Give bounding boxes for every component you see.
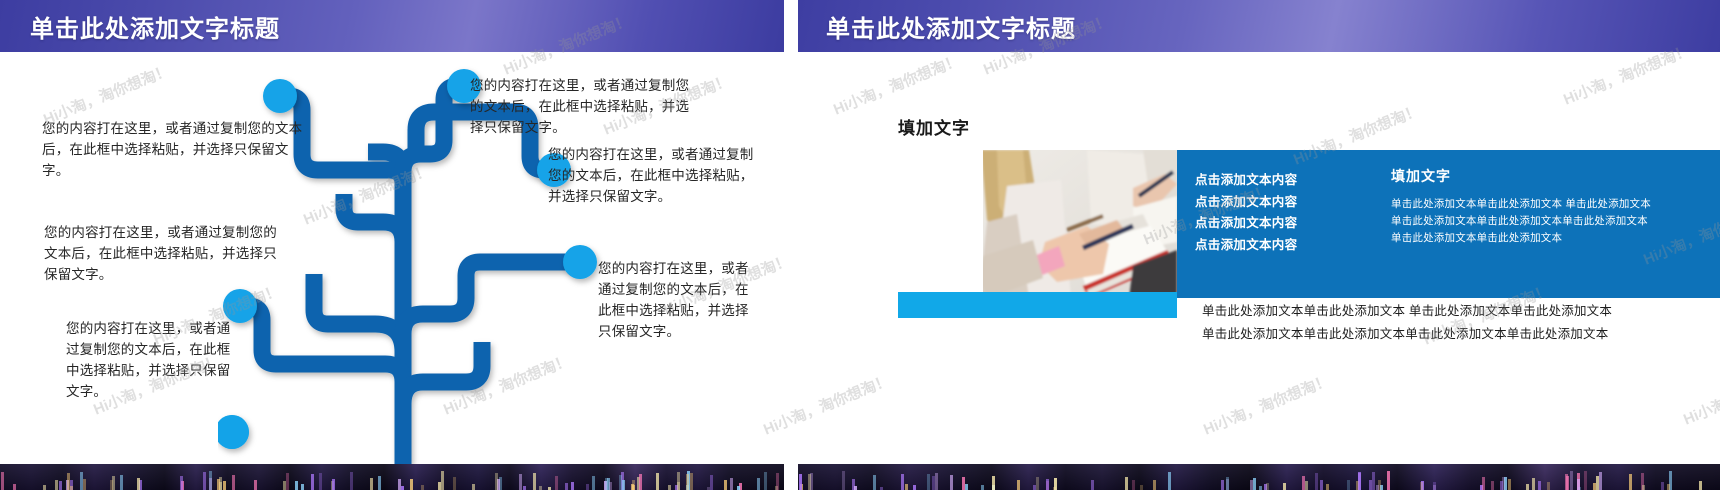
skyline-window [232, 475, 235, 490]
skyline-window [519, 474, 522, 490]
skyline-window [686, 474, 689, 490]
skyline-window [301, 484, 304, 490]
city-skyline-strip-left [0, 464, 784, 490]
bullet-item[interactable]: 点击添加文本内容 [1195, 235, 1373, 257]
skyline-window [1532, 478, 1535, 490]
skyline-window [776, 473, 779, 490]
skyline-window [1565, 474, 1568, 490]
skyline-window [757, 478, 760, 490]
skyline-window [1153, 480, 1156, 490]
skyline-window [1491, 481, 1494, 490]
skyline-window [632, 485, 635, 490]
slide-right[interactable]: 单击此处添加文字标题 填加文字 [798, 0, 1720, 490]
skyline-window [67, 473, 70, 490]
skyline-window [533, 473, 536, 490]
skyline-window [1, 472, 4, 490]
skyline-window [217, 479, 220, 490]
skyline-window [913, 485, 916, 490]
skyline-window [935, 473, 938, 490]
skyline-window [1387, 471, 1390, 490]
skyline-window [1538, 481, 1541, 490]
skyline-window [1420, 482, 1423, 490]
footer-line[interactable]: 单击此处添加文本单击此处添加文本 单击此处添加文本单击此处添加文本 [1202, 300, 1720, 323]
bullet-list: 点击添加文本内容 点击添加文本内容 点击添加文本内容 点击添加文本内容 [1195, 170, 1373, 256]
skyline-window [1629, 474, 1632, 490]
skyline-window [80, 472, 83, 490]
caption-left-top[interactable]: 您的内容打在这里，或者通过复制您的文本后，在此框中选择粘贴，并选择只保留文字。 [42, 118, 310, 181]
skyline-window [1599, 472, 1602, 490]
skyline-window [13, 484, 16, 490]
skyline-window [764, 472, 767, 490]
skyline-window [1266, 483, 1269, 490]
skyline-window [1250, 480, 1253, 490]
skyline-window [209, 478, 212, 490]
skyline-window [370, 478, 373, 490]
skyline-window [622, 480, 625, 490]
skyline-window [203, 472, 206, 490]
skyline-window [1369, 480, 1372, 490]
skyline-window [1372, 472, 1375, 490]
skyline-window [1017, 480, 1020, 490]
skyline-window [730, 478, 733, 490]
skyline-window [1033, 485, 1036, 490]
skyline-window [350, 472, 353, 490]
panel-line[interactable]: 单击此处添加文本单击此处添加文本 [1391, 230, 1720, 247]
skyline-window [453, 477, 456, 490]
blue-box-panel-title[interactable]: 填加文字 [1391, 166, 1720, 186]
skyline-window [1500, 481, 1503, 490]
skyline-window [592, 476, 595, 490]
skyline-window [854, 486, 857, 490]
skyline-window [1253, 478, 1256, 490]
skyline-window [1667, 484, 1670, 490]
skyline-window [808, 474, 811, 490]
skyline-window [981, 485, 984, 490]
skyline-window [873, 475, 876, 490]
skyline-window [965, 484, 968, 490]
tree-node [263, 79, 297, 113]
photo-women-writing [983, 150, 1177, 298]
skyline-window [710, 475, 713, 490]
skyline-window [110, 480, 113, 490]
slide-right-title[interactable]: 单击此处添加文字标题 [826, 9, 1076, 44]
skyline-window [1125, 477, 1128, 490]
skyline-window [1358, 473, 1361, 490]
caption-left-bottom[interactable]: 您的内容打在这里，或者通过复制您的文本后，在此框中选择粘贴，并选择只保留文字。 [66, 318, 242, 402]
skyline-window [737, 486, 740, 490]
skyline-window [1326, 484, 1329, 490]
skyline-window [656, 473, 659, 490]
skyline-window [690, 473, 693, 490]
skyline-window [1547, 482, 1550, 490]
skyline-window [668, 485, 671, 490]
slide-left[interactable]: 单击此处添加文字标题 [0, 0, 784, 490]
skyline-window [1584, 471, 1587, 490]
skyline-window [1570, 471, 1573, 490]
slide-gutter [784, 0, 798, 490]
skyline-window [1036, 477, 1039, 490]
skyline-window [401, 486, 404, 490]
skyline-window [609, 482, 612, 490]
skyline-window [1376, 485, 1379, 490]
skyline-window [1642, 485, 1645, 490]
skyline-window [472, 484, 475, 490]
skyline-window [1482, 477, 1485, 490]
blue-content-box: 点击添加文本内容 点击添加文本内容 点击添加文本内容 点击添加文本内容 填加文字… [1177, 150, 1720, 298]
skyline-window [83, 479, 86, 490]
tree-node [563, 245, 597, 279]
skyline-window [586, 484, 589, 490]
slide-right-header: 单击此处添加文字标题 [798, 0, 1720, 52]
skyline-window [1283, 483, 1286, 490]
skyline-window [842, 471, 845, 490]
skyline-window [1046, 479, 1049, 490]
skyline-window [70, 486, 73, 490]
skyline-window [223, 481, 226, 490]
skyline-window [799, 474, 802, 490]
skyline-window [1596, 476, 1599, 490]
skyline-window [1259, 486, 1262, 490]
skyline-window [332, 479, 335, 490]
slide-left-header: 单击此处添加文字标题 [0, 0, 784, 52]
skyline-window [1302, 476, 1305, 490]
skyline-window [523, 486, 526, 490]
skyline-window [1054, 478, 1057, 490]
skyline-window [295, 481, 298, 490]
skyline-window [410, 479, 413, 490]
city-skyline-strip-right [798, 464, 1720, 490]
bullet-item[interactable]: 点击添加文本内容 [1195, 170, 1373, 192]
panel-line[interactable]: 单击此处添加文本单击此处添加文本 单击此处添加文本 [1391, 196, 1720, 213]
skyline-window [1305, 481, 1308, 490]
skyline-window [1221, 480, 1224, 490]
skyline-window [1433, 482, 1436, 490]
skyline-window [1226, 477, 1229, 490]
footer-text-block: 单击此处添加文本单击此处添加文本 单击此处添加文本单击此处添加文本 单击此处添加… [1202, 300, 1720, 346]
skyline-window [992, 476, 995, 490]
skyline-window [1347, 480, 1350, 490]
skyline-window [1140, 485, 1143, 490]
blue-box-panel-body: 单击此处添加文本单击此处添加文本 单击此处添加文本 单击此处添加文本单击此处添加… [1391, 196, 1720, 247]
skyline-window [539, 486, 542, 490]
skyline-window [1699, 481, 1702, 490]
skyline-window [677, 472, 680, 490]
skyline-window [378, 476, 381, 490]
skyline-window [950, 475, 953, 490]
skyline-window [120, 475, 123, 490]
skyline-window [901, 474, 904, 490]
skyline-window [905, 484, 908, 490]
skyline-window [1320, 480, 1323, 490]
skyline-window [571, 482, 574, 490]
skyline-window [43, 485, 46, 490]
skyline-window [254, 480, 257, 490]
skyline-window [927, 474, 930, 490]
slide-deck: 单击此处添加文字标题 [0, 0, 1720, 490]
skyline-window [1315, 473, 1318, 490]
skyline-window [605, 478, 608, 490]
skyline-window [137, 478, 140, 490]
skyline-window [398, 479, 401, 490]
skyline-window [441, 471, 444, 490]
skyline-window [59, 481, 62, 490]
skyline-window [1168, 472, 1171, 490]
caption-left-middle[interactable]: 您的内容打在这里，或者通过复制您的文本后，在此框中选择粘贴，并选择只保留文字。 [44, 222, 284, 285]
skyline-window [1132, 480, 1135, 490]
skyline-window [1526, 484, 1529, 490]
skyline-window [724, 480, 727, 490]
skyline-window [565, 483, 568, 490]
skyline-window [1508, 479, 1511, 490]
caption-right-top[interactable]: 您的内容打在这里，或者通过复制您的文本后，在此框中选择粘贴，并选择只保留文字。 [470, 75, 700, 138]
skyline-window [1577, 479, 1580, 490]
skyline-window [421, 485, 424, 490]
cyan-accent-bar [898, 292, 1177, 318]
caption-right-bottom[interactable]: 您的内容打在这里，或者通过复制您的文本后，在此框中选择粘贴，并选择只保留文字。 [598, 258, 750, 342]
skyline-window [180, 476, 183, 490]
skyline-window [495, 473, 498, 490]
panel-line[interactable]: 单击此处添加文本单击此处添加文本单击此处添加文本 [1391, 213, 1720, 230]
bullet-item[interactable]: 点击添加文本内容 [1195, 213, 1373, 235]
skyline-window [286, 473, 289, 490]
skyline-window [311, 474, 314, 490]
skyline-window [639, 474, 642, 490]
section-heading[interactable]: 填加文字 [898, 114, 970, 139]
skyline-window [319, 473, 322, 490]
caption-right-middle[interactable]: 您的内容打在这里，或者通过复制您的文本后，在此框中选择粘贴，并选择只保留文字。 [548, 144, 763, 207]
footer-line[interactable]: 单击此处添加文本单击此处添加文本单击此处添加文本单击此处添加文本 [1202, 323, 1720, 346]
bullet-item[interactable]: 点击添加文本内容 [1195, 192, 1373, 214]
blue-box-panel: 填加文字 单击此处添加文本单击此处添加文本 单击此处添加文本 单击此处添加文本单… [1391, 166, 1720, 247]
skyline-window [438, 482, 441, 490]
skyline-window [555, 476, 558, 490]
skyline-window [55, 480, 58, 490]
skyline-window [1661, 482, 1664, 490]
slide-left-title[interactable]: 单击此处添加文字标题 [30, 9, 280, 44]
skyline-window [1091, 480, 1094, 490]
